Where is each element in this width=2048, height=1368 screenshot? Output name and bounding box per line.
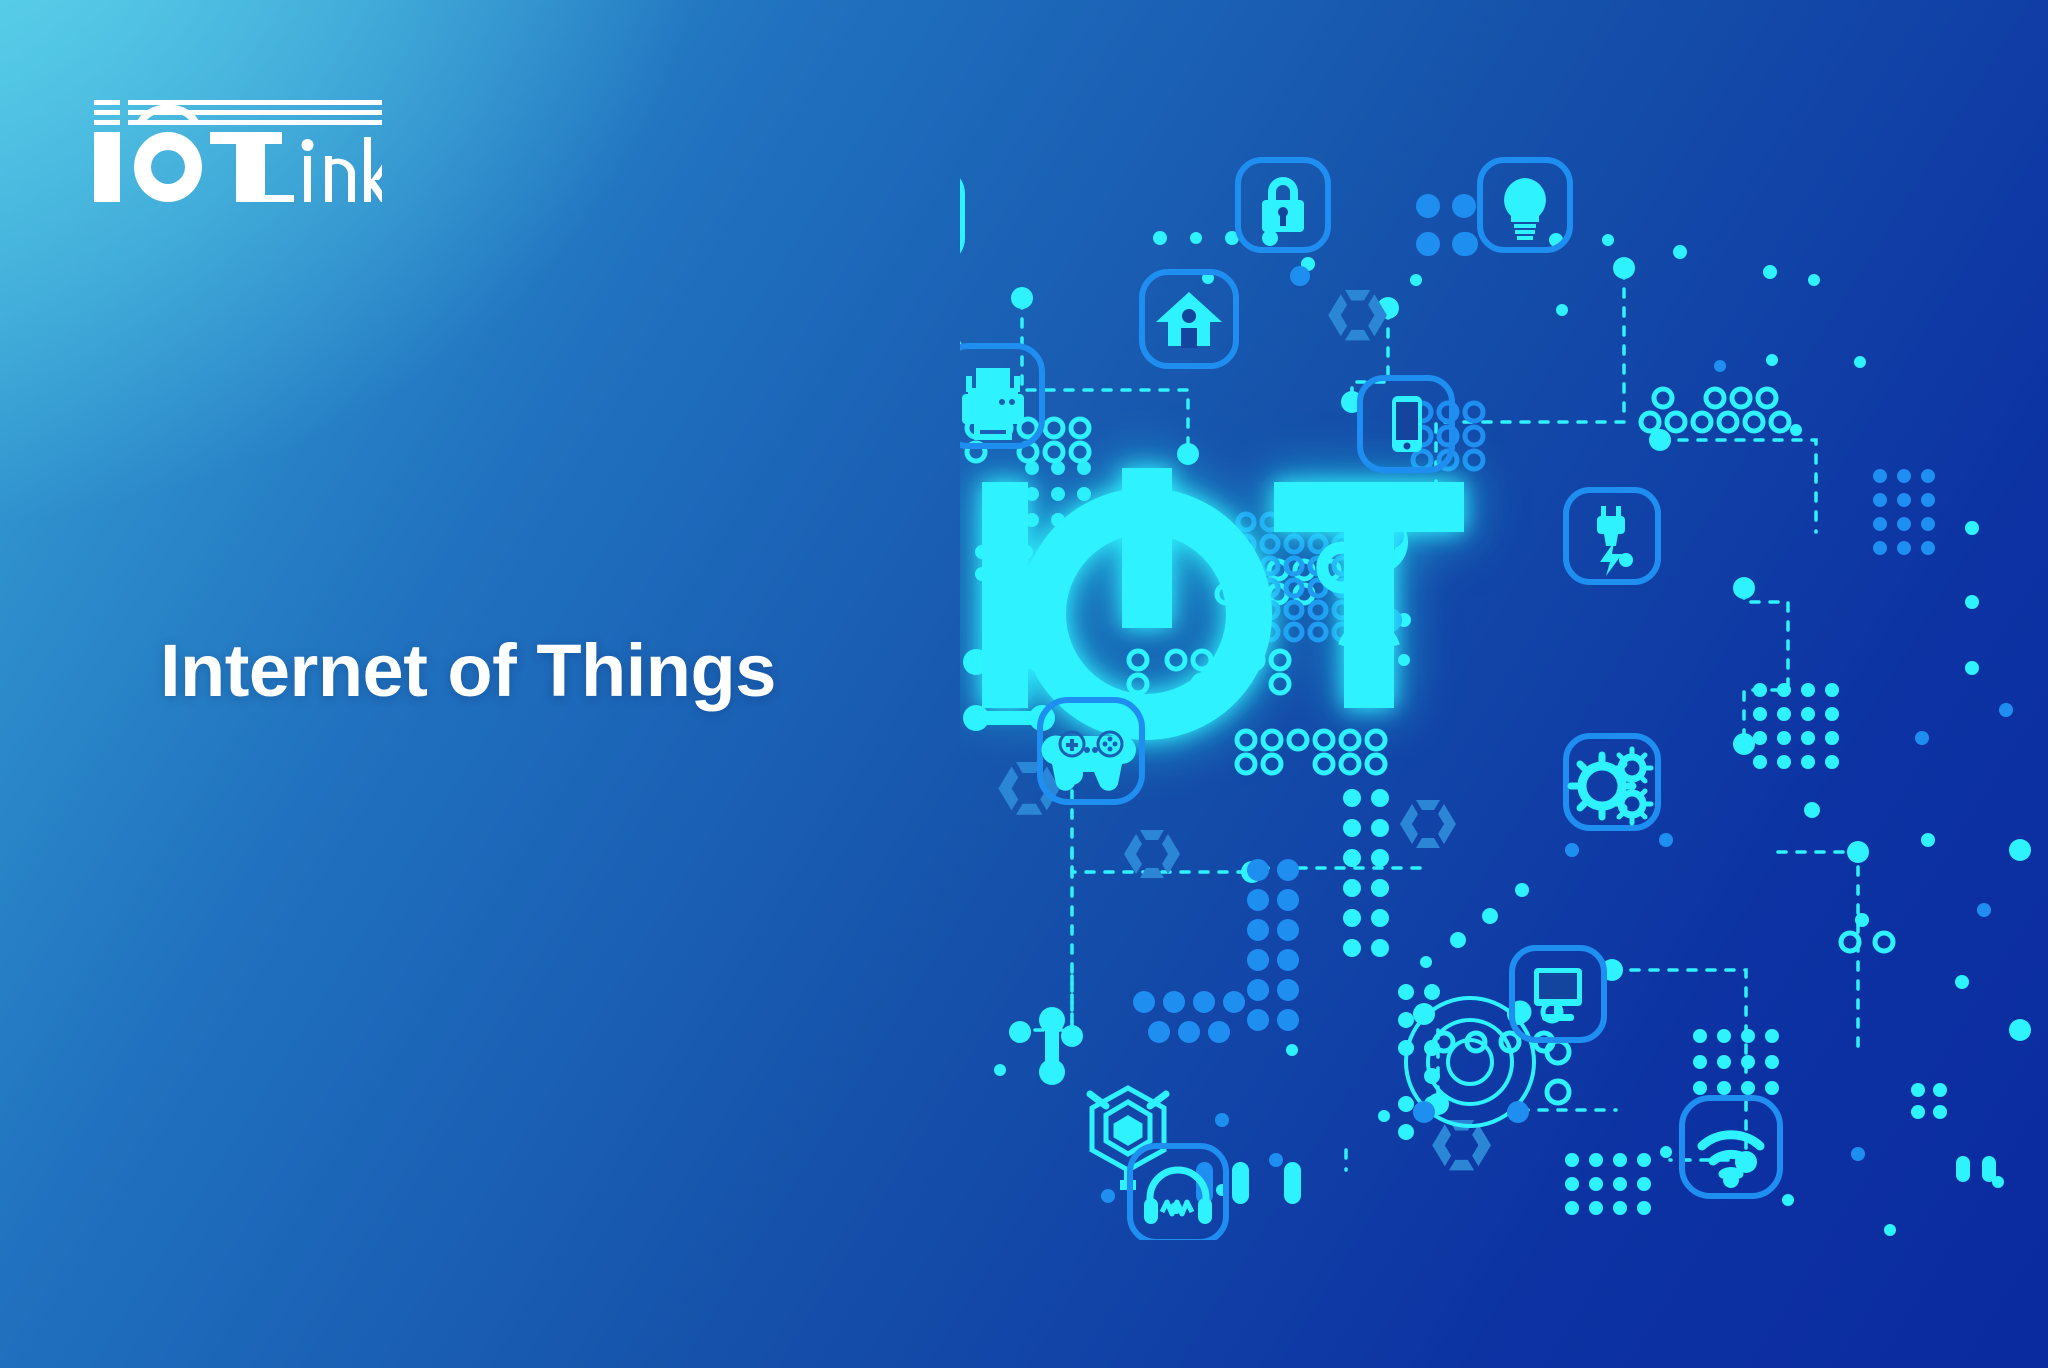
smartphone-icon — [1392, 396, 1422, 452]
lock-icon — [1262, 177, 1304, 232]
icon-tile-desktop-display[interactable] — [1512, 948, 1604, 1040]
gears-icon — [1571, 749, 1651, 823]
home-icon — [1156, 292, 1222, 348]
wifi-dot — [1723, 1172, 1739, 1188]
gamepad-icon — [1041, 732, 1136, 791]
icon-tile-lock[interactable] — [1238, 160, 1328, 250]
icon-tile-printer[interactable] — [960, 346, 1042, 446]
page-title: Internet of Things — [160, 628, 776, 713]
printer-icon — [962, 368, 1024, 440]
capsule-bars — [1196, 1162, 1301, 1204]
icon-tile-power-plug[interactable] — [1566, 490, 1658, 582]
iotlink-logo[interactable] — [92, 92, 382, 202]
icon-tile-monitor[interactable] — [960, 170, 962, 262]
center-wordmark — [960, 468, 1464, 737]
icon-tile-wifi[interactable] — [1682, 1098, 1780, 1196]
power-plug-icon — [1597, 506, 1625, 576]
icon-tile-home[interactable] — [1142, 272, 1236, 366]
lightbulb-icon — [1504, 178, 1546, 240]
poster-canvas: Internet of Things — [0, 0, 2048, 1368]
iot-network-graphic — [960, 150, 2048, 1240]
icon-tile-gears[interactable] — [1566, 736, 1658, 828]
logo-artwork — [92, 92, 382, 202]
